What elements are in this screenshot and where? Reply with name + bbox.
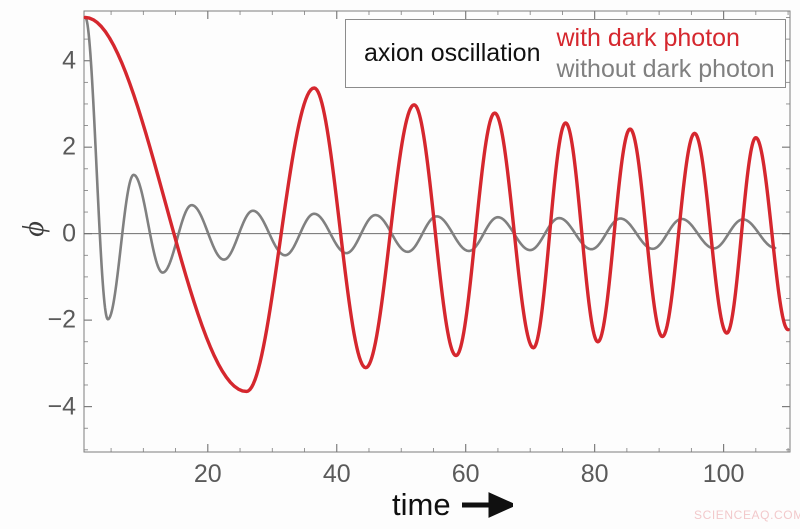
x-axis-title-text: time — [392, 487, 451, 523]
x-tick-label: 100 — [703, 460, 745, 489]
y-axis-title: ϕ — [13, 209, 55, 249]
y-tick-label: 2 — [62, 133, 76, 162]
legend-entry: with dark photon — [557, 23, 740, 54]
x-tick-label: 80 — [581, 460, 609, 489]
x-tick-label: 40 — [323, 460, 351, 489]
legend-entry: without dark photon — [557, 54, 775, 85]
y-tick-label: 4 — [62, 46, 76, 75]
figure-canvas: 20406080100 420−2−4 ϕ time axion oscilla… — [0, 0, 800, 529]
y-tick-label: −4 — [47, 392, 76, 421]
x-axis-title: time — [392, 487, 513, 523]
x-tick-label: 20 — [194, 460, 222, 489]
watermark: SCIENCEAQ.COM — [694, 508, 800, 522]
legend-title: axion oscillation — [346, 39, 541, 68]
y-tick-label: 0 — [62, 219, 76, 248]
right-arrow-icon — [461, 492, 513, 518]
x-tick-label: 60 — [452, 460, 480, 489]
y-tick-label: −2 — [47, 306, 76, 335]
legend-entry-list: with dark photonwithout dark photon — [541, 23, 786, 85]
legend-box: axion oscillation with dark photonwithou… — [345, 19, 786, 88]
